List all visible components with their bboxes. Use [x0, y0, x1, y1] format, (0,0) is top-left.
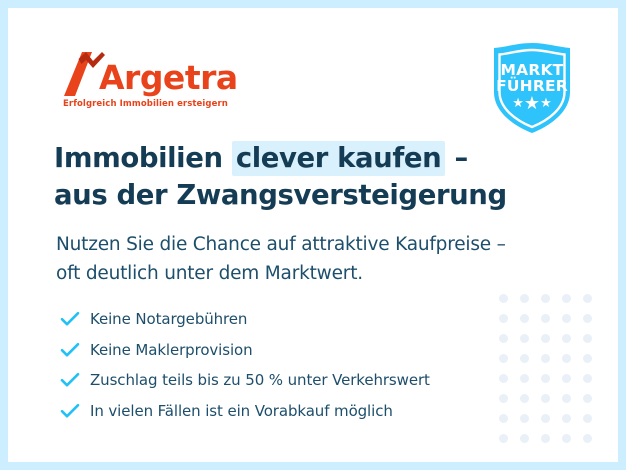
list-item: Keine Notargebühren	[60, 304, 430, 335]
shield-badge-icon	[484, 40, 580, 136]
dot	[583, 334, 592, 343]
subheadline-line-1: Nutzen Sie die Chance auf attraktive Kau…	[56, 230, 506, 259]
dot	[520, 334, 529, 343]
benefit-list: Keine Notargebühren Keine Maklerprovisio…	[60, 304, 430, 426]
logo-wordmark: Argetra	[99, 61, 238, 96]
dot	[583, 394, 592, 403]
dot	[583, 314, 592, 323]
dot	[541, 394, 550, 403]
logo-row: Argetra	[62, 50, 238, 96]
list-item-label: In vielen Fällen ist ein Vorabkauf mögli…	[90, 402, 393, 420]
dot	[562, 294, 571, 303]
dot	[562, 374, 571, 383]
dot	[520, 314, 529, 323]
dot	[499, 334, 508, 343]
dot	[541, 374, 550, 383]
check-icon	[60, 310, 90, 328]
headline-line-2: aus der Zwangsversteigerung	[54, 179, 507, 211]
dot	[499, 314, 508, 323]
dot	[520, 374, 529, 383]
list-item-label: Keine Maklerprovision	[90, 341, 253, 359]
dot	[520, 354, 529, 363]
dot	[520, 434, 529, 443]
dot	[499, 374, 508, 383]
check-icon	[60, 371, 90, 389]
dot	[541, 434, 550, 443]
dot	[562, 394, 571, 403]
ad-banner-canvas: Argetra Erfolgreich Immobilien ersteiger…	[8, 8, 618, 462]
dot	[499, 354, 508, 363]
list-item: Zuschlag teils bis zu 50 % unter Verkehr…	[60, 365, 430, 396]
dot	[499, 294, 508, 303]
dot	[562, 354, 571, 363]
ad-banner-frame: Argetra Erfolgreich Immobilien ersteiger…	[0, 0, 626, 470]
dot	[520, 414, 529, 423]
dot	[583, 354, 592, 363]
dot	[499, 394, 508, 403]
dot	[562, 434, 571, 443]
dot	[541, 314, 550, 323]
dot	[541, 414, 550, 423]
dot	[583, 374, 592, 383]
dot	[499, 434, 508, 443]
headline-line-1: Immobilien clever kaufen –	[54, 141, 468, 176]
subheadline: Nutzen Sie die Chance auf attraktive Kau…	[56, 230, 506, 288]
check-icon	[60, 341, 90, 359]
argetra-a-roof-icon	[62, 50, 106, 96]
dot	[562, 314, 571, 323]
list-item-label: Keine Notargebühren	[90, 310, 247, 328]
dot	[583, 414, 592, 423]
logo-tagline: Erfolgreich Immobilien ersteigern	[63, 99, 238, 109]
check-icon	[60, 402, 90, 420]
list-item-label: Zuschlag teils bis zu 50 % unter Verkehr…	[90, 371, 430, 389]
dot	[520, 294, 529, 303]
dot	[562, 414, 571, 423]
list-item: Keine Maklerprovision	[60, 335, 430, 366]
page-title: Immobilien clever kaufen – aus der Zwang…	[54, 140, 507, 214]
market-leader-badge: MARKT FÜHRER ★★★	[484, 40, 580, 136]
dot	[583, 294, 592, 303]
dot	[499, 414, 508, 423]
dot-grid-decoration	[499, 294, 604, 454]
dot	[541, 354, 550, 363]
headline-pre: Immobilien	[54, 142, 232, 174]
brand-logo[interactable]: Argetra Erfolgreich Immobilien ersteiger…	[62, 50, 238, 109]
dot	[520, 394, 529, 403]
headline-highlight: clever kaufen	[232, 141, 446, 176]
dot	[562, 334, 571, 343]
list-item: In vielen Fällen ist ein Vorabkauf mögli…	[60, 396, 430, 427]
dot	[541, 334, 550, 343]
headline-post: –	[445, 142, 468, 174]
subheadline-line-2: oft deutlich unter dem Marktwert.	[56, 259, 506, 288]
dot	[541, 294, 550, 303]
dot	[583, 434, 592, 443]
